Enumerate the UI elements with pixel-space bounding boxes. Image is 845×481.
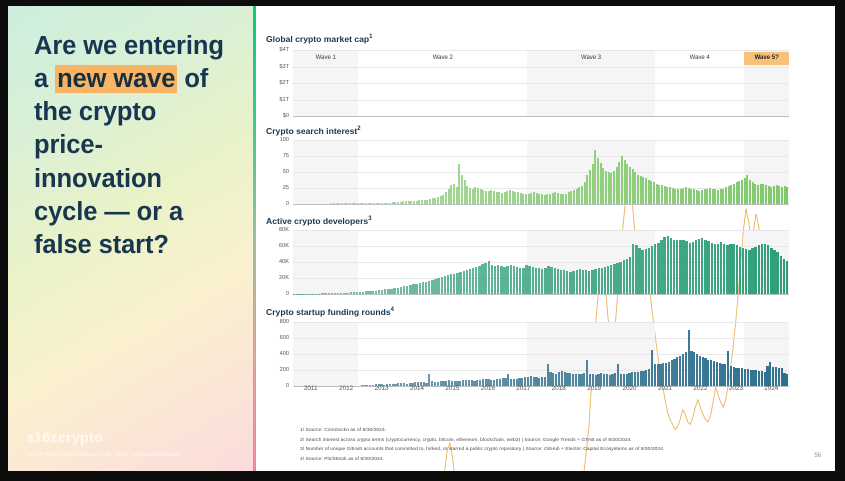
bar	[381, 290, 383, 294]
bar	[645, 370, 647, 386]
bar	[696, 354, 698, 386]
bar	[747, 369, 749, 386]
chart-title-1: Global crypto market cap1	[266, 34, 373, 44]
bar	[673, 359, 675, 386]
bar-series-3	[293, 230, 789, 294]
slide-inner: Are we entering a new wave of the crypto…	[8, 6, 835, 471]
bar	[631, 372, 633, 386]
bar	[642, 371, 644, 386]
bar	[748, 250, 750, 294]
bar	[538, 268, 540, 294]
bar	[572, 271, 574, 294]
bar	[634, 372, 636, 386]
bar	[525, 265, 527, 294]
bar	[735, 368, 737, 386]
y-tick-label-3-0: 0	[286, 291, 289, 297]
bar	[695, 240, 697, 294]
bar	[588, 271, 590, 294]
bar	[350, 292, 352, 294]
bar	[613, 264, 615, 294]
bar	[758, 371, 760, 386]
y-tick-label-2-0: 0	[286, 201, 289, 207]
bar	[478, 266, 480, 294]
y-tick-label-4-1: 200	[280, 367, 289, 373]
footnote-2: 2/ Search interest across crypto terms (…	[300, 436, 815, 446]
bar	[400, 287, 402, 294]
x-tick-label-2020: 2020	[623, 385, 637, 392]
bar	[714, 244, 716, 294]
y-tick-label-4-4: 800	[280, 319, 289, 325]
footnote-4: 4/ Source: PitchBook as of 9/30/2024.	[300, 455, 815, 465]
bar	[428, 281, 430, 294]
bar	[654, 244, 656, 294]
bar	[693, 352, 695, 386]
bar	[406, 286, 408, 294]
bar	[640, 371, 642, 386]
y-tick-label-1-2: $2T	[279, 80, 289, 86]
x-tick-label-2023: 2023	[729, 385, 743, 392]
bar	[334, 293, 336, 294]
bar	[632, 244, 634, 294]
copyright-notice: ©2024 Andreessen Horowitz | All rights r…	[26, 452, 183, 458]
bar	[626, 259, 628, 294]
x-tick-label-2024: 2024	[764, 385, 778, 392]
y-tick-label-3-3: 60K	[279, 243, 289, 249]
bar	[629, 257, 631, 294]
bar	[668, 362, 670, 386]
y-tick-label-3-2: 40K	[279, 259, 289, 265]
headline-after: of the crypto price-innovation cycle — o…	[34, 65, 208, 259]
bar	[730, 366, 732, 386]
bar	[419, 283, 421, 294]
bar	[569, 272, 571, 294]
bar	[775, 367, 777, 386]
bar	[665, 363, 667, 386]
bar	[365, 291, 367, 294]
bar	[704, 240, 706, 294]
bar	[751, 248, 753, 294]
bar	[723, 244, 725, 294]
bar	[412, 284, 414, 294]
bar	[579, 269, 581, 294]
bar	[390, 289, 392, 294]
chart-title-3: Active crypto developers3	[266, 216, 372, 226]
x-axis-year-labels: 2011201220132014201520162017201820192020…	[293, 385, 789, 397]
bar	[513, 266, 515, 294]
bar	[670, 238, 672, 294]
page-number: 56	[814, 453, 821, 459]
bar	[617, 364, 619, 386]
bar	[645, 249, 647, 294]
bar	[434, 279, 436, 294]
bar	[453, 274, 455, 294]
bar	[752, 370, 754, 386]
bar	[772, 367, 774, 386]
bar	[733, 367, 735, 386]
bar	[362, 292, 364, 294]
bar	[738, 368, 740, 386]
bar	[616, 263, 618, 294]
bar	[689, 243, 691, 294]
bar	[729, 244, 731, 294]
bar	[409, 285, 411, 294]
wave-label-4: Wave 4	[655, 52, 744, 65]
bar	[702, 357, 704, 386]
bar	[594, 269, 596, 294]
bar	[663, 237, 665, 294]
bar	[676, 240, 678, 294]
bar	[447, 275, 449, 294]
bar	[541, 269, 543, 294]
bar	[566, 271, 568, 294]
bar	[671, 360, 673, 386]
chart-footnote-marker-3: 3	[368, 216, 371, 222]
bar	[558, 372, 560, 386]
bar	[676, 357, 678, 386]
bar	[667, 236, 669, 294]
bar	[466, 270, 468, 294]
bar	[321, 293, 323, 294]
bar	[662, 363, 664, 386]
bar	[685, 352, 687, 386]
bar	[475, 267, 477, 294]
x-tick-label-2017: 2017	[516, 385, 530, 392]
x-tick-label-2011: 2011	[304, 385, 318, 392]
wave-label-row: Wave 1Wave 2Wave 3Wave 4Wave 5?	[293, 52, 789, 65]
y-tick-label-2-4: 100	[280, 137, 289, 143]
bar	[721, 364, 723, 386]
bar	[371, 291, 373, 294]
bar	[494, 266, 496, 294]
bar	[425, 282, 427, 294]
y-tick-label-2-2: 50	[283, 169, 289, 175]
bar	[682, 240, 684, 294]
gridline-3-0	[293, 294, 789, 295]
bar	[704, 358, 706, 386]
bar	[682, 354, 684, 386]
bar	[685, 241, 687, 294]
plot-area-2: 0255075100	[293, 140, 789, 204]
bar	[384, 289, 386, 294]
bar	[780, 256, 782, 294]
bar	[755, 370, 757, 386]
bar	[585, 270, 587, 294]
bar	[657, 364, 659, 386]
bar	[472, 268, 474, 294]
bar-series-2	[293, 140, 789, 204]
bar	[769, 362, 771, 386]
bar	[415, 284, 417, 294]
bar	[699, 356, 701, 386]
bar	[635, 245, 637, 294]
y-tick-label-1-4: $4T	[279, 47, 289, 53]
bar	[739, 247, 741, 294]
bar	[598, 268, 600, 294]
bar	[710, 360, 712, 386]
bar	[563, 270, 565, 294]
bar	[716, 362, 718, 386]
bar	[550, 267, 552, 294]
y-tick-label-3-4: 80K	[279, 227, 289, 233]
gridline-2-0	[293, 204, 789, 205]
charts-area: Global crypto market cap1$0$1T$2T$3T$4TW…	[256, 6, 835, 471]
x-tick-label-2018: 2018	[552, 385, 566, 392]
x-tick-label-2015: 2015	[445, 385, 459, 392]
plot-area-4: 0200400600800	[293, 322, 789, 386]
bar	[535, 268, 537, 294]
x-tick-label-2021: 2021	[658, 385, 672, 392]
bar	[619, 262, 621, 294]
bar	[767, 245, 769, 294]
bar	[641, 250, 643, 294]
y-tick-label-4-2: 400	[280, 351, 289, 357]
bar	[783, 259, 785, 294]
bar	[701, 238, 703, 294]
bar	[359, 292, 361, 294]
bar	[368, 291, 370, 294]
bar	[522, 268, 524, 294]
bar	[324, 293, 326, 294]
bar	[532, 267, 534, 294]
bar	[726, 245, 728, 294]
footnotes: 1/ Source: CoinGecko as of 9/30/2024.2/ …	[300, 426, 815, 464]
bar	[657, 243, 659, 294]
bar	[519, 268, 521, 294]
bar	[713, 361, 715, 386]
bar	[331, 293, 333, 294]
bar	[353, 292, 355, 294]
bar	[692, 242, 694, 294]
bar	[770, 248, 772, 294]
bar	[378, 290, 380, 294]
bar	[547, 266, 549, 294]
bar	[766, 366, 768, 386]
bar	[547, 364, 549, 386]
bar	[582, 270, 584, 294]
chart-footnote-marker-4: 4	[391, 307, 394, 313]
bar	[736, 245, 738, 294]
bar	[781, 368, 783, 386]
x-tick-label-2016: 2016	[481, 385, 495, 392]
bar	[549, 372, 551, 386]
bar	[717, 244, 719, 294]
bar	[387, 289, 389, 294]
bar	[561, 371, 563, 386]
bar	[744, 369, 746, 386]
bar	[604, 267, 606, 294]
x-tick-label-2014: 2014	[410, 385, 424, 392]
bar	[437, 278, 439, 294]
y-tick-label-4-0: 0	[286, 383, 289, 389]
bar	[776, 252, 778, 294]
bar	[698, 239, 700, 294]
bar	[688, 330, 690, 386]
chart-footnote-marker-2: 2	[357, 126, 360, 132]
bar	[690, 351, 692, 386]
bar	[711, 243, 713, 294]
bar	[745, 249, 747, 294]
bar	[444, 276, 446, 294]
bar	[679, 356, 681, 386]
x-tick-label-2012: 2012	[339, 385, 353, 392]
x-tick-label-2019: 2019	[587, 385, 601, 392]
bar	[450, 274, 452, 294]
headline-highlight: new wave	[55, 65, 177, 93]
wave-label-1: Wave 1	[293, 52, 358, 65]
bar	[610, 265, 612, 294]
chart-footnote-marker-1: 1	[369, 34, 372, 40]
bar	[554, 268, 556, 294]
wave-label-2: Wave 2	[358, 52, 527, 65]
chart-title-4: Crypto startup funding rounds4	[266, 307, 394, 317]
bar	[607, 266, 609, 294]
bar	[720, 242, 722, 294]
bar	[764, 244, 766, 294]
bar	[576, 270, 578, 294]
bar	[648, 369, 650, 386]
bar	[623, 260, 625, 294]
bar	[456, 273, 458, 294]
bar	[673, 240, 675, 294]
bar	[557, 269, 559, 294]
y-tick-label-1-0: $0	[283, 113, 289, 119]
bar	[484, 263, 486, 294]
bar	[786, 261, 788, 294]
bar	[497, 265, 499, 294]
bar	[778, 368, 780, 386]
left-title-panel: Are we entering a new wave of the crypto…	[8, 6, 256, 471]
y-tick-label-4-3: 600	[280, 335, 289, 341]
bar	[403, 286, 405, 294]
bar	[343, 293, 345, 294]
bar	[651, 246, 653, 294]
bar	[506, 266, 508, 294]
y-tick-label-1-3: $3T	[279, 64, 289, 70]
bar	[337, 293, 339, 294]
bar	[707, 241, 709, 294]
bar	[375, 291, 377, 294]
bar	[544, 268, 546, 294]
bar	[431, 280, 433, 294]
bar	[727, 351, 729, 386]
bar	[491, 265, 493, 294]
footnote-1: 1/ Source: CoinGecko as of 9/30/2024.	[300, 426, 815, 436]
bar	[761, 371, 763, 386]
bar	[481, 264, 483, 294]
bar	[707, 360, 709, 386]
bar	[651, 350, 653, 386]
wave-label-3: Wave 3	[527, 52, 655, 65]
bar	[328, 293, 330, 294]
bar	[758, 245, 760, 294]
bar	[340, 293, 342, 294]
y-tick-label-1-1: $1T	[279, 97, 289, 103]
x-tick-label-2022: 2022	[693, 385, 707, 392]
bar	[500, 266, 502, 294]
bar	[719, 363, 721, 386]
bar	[660, 240, 662, 294]
bar	[516, 267, 518, 294]
bar	[679, 240, 681, 294]
bar-series-4	[293, 322, 789, 386]
bar	[422, 282, 424, 294]
y-tick-label-3-1: 20K	[279, 275, 289, 281]
bar	[564, 372, 566, 386]
bar	[648, 248, 650, 294]
bar	[761, 244, 763, 294]
bar	[459, 272, 461, 294]
bar	[488, 261, 490, 294]
slide-root: Are we entering a new wave of the crypto…	[0, 0, 845, 481]
plot-area-3: 020K40K60K80K	[293, 230, 789, 294]
x-tick-label-2013: 2013	[375, 385, 389, 392]
y-tick-label-2-1: 25	[283, 185, 289, 191]
footnote-3: 3/ Number of unique GitHub accounts that…	[300, 445, 815, 455]
bar	[503, 267, 505, 294]
bar	[510, 265, 512, 294]
bar	[773, 250, 775, 294]
bar	[397, 288, 399, 294]
bar	[742, 248, 744, 294]
bar	[586, 360, 588, 386]
brand-logo: a16zcrypto	[26, 429, 103, 445]
bar	[637, 372, 639, 386]
bar	[741, 368, 743, 386]
bar	[441, 277, 443, 294]
bar	[346, 293, 348, 294]
bar	[463, 271, 465, 294]
bar	[724, 364, 726, 386]
y-tick-label-2-3: 75	[283, 153, 289, 159]
bar	[601, 268, 603, 294]
bar	[754, 247, 756, 294]
bar	[528, 266, 530, 294]
bar	[393, 288, 395, 294]
bar	[659, 364, 661, 386]
bar	[750, 370, 752, 386]
bar	[469, 269, 471, 294]
bar	[732, 244, 734, 294]
bar	[356, 292, 358, 294]
bar	[560, 270, 562, 294]
bar	[591, 270, 593, 294]
wave-label-5: Wave 5?	[744, 52, 789, 65]
bar	[764, 372, 766, 386]
bar	[786, 187, 788, 204]
bar	[654, 364, 656, 386]
chart-title-2: Crypto search interest2	[266, 126, 361, 136]
page-title: Are we entering a new wave of the crypto…	[34, 30, 226, 262]
bar	[638, 248, 640, 294]
